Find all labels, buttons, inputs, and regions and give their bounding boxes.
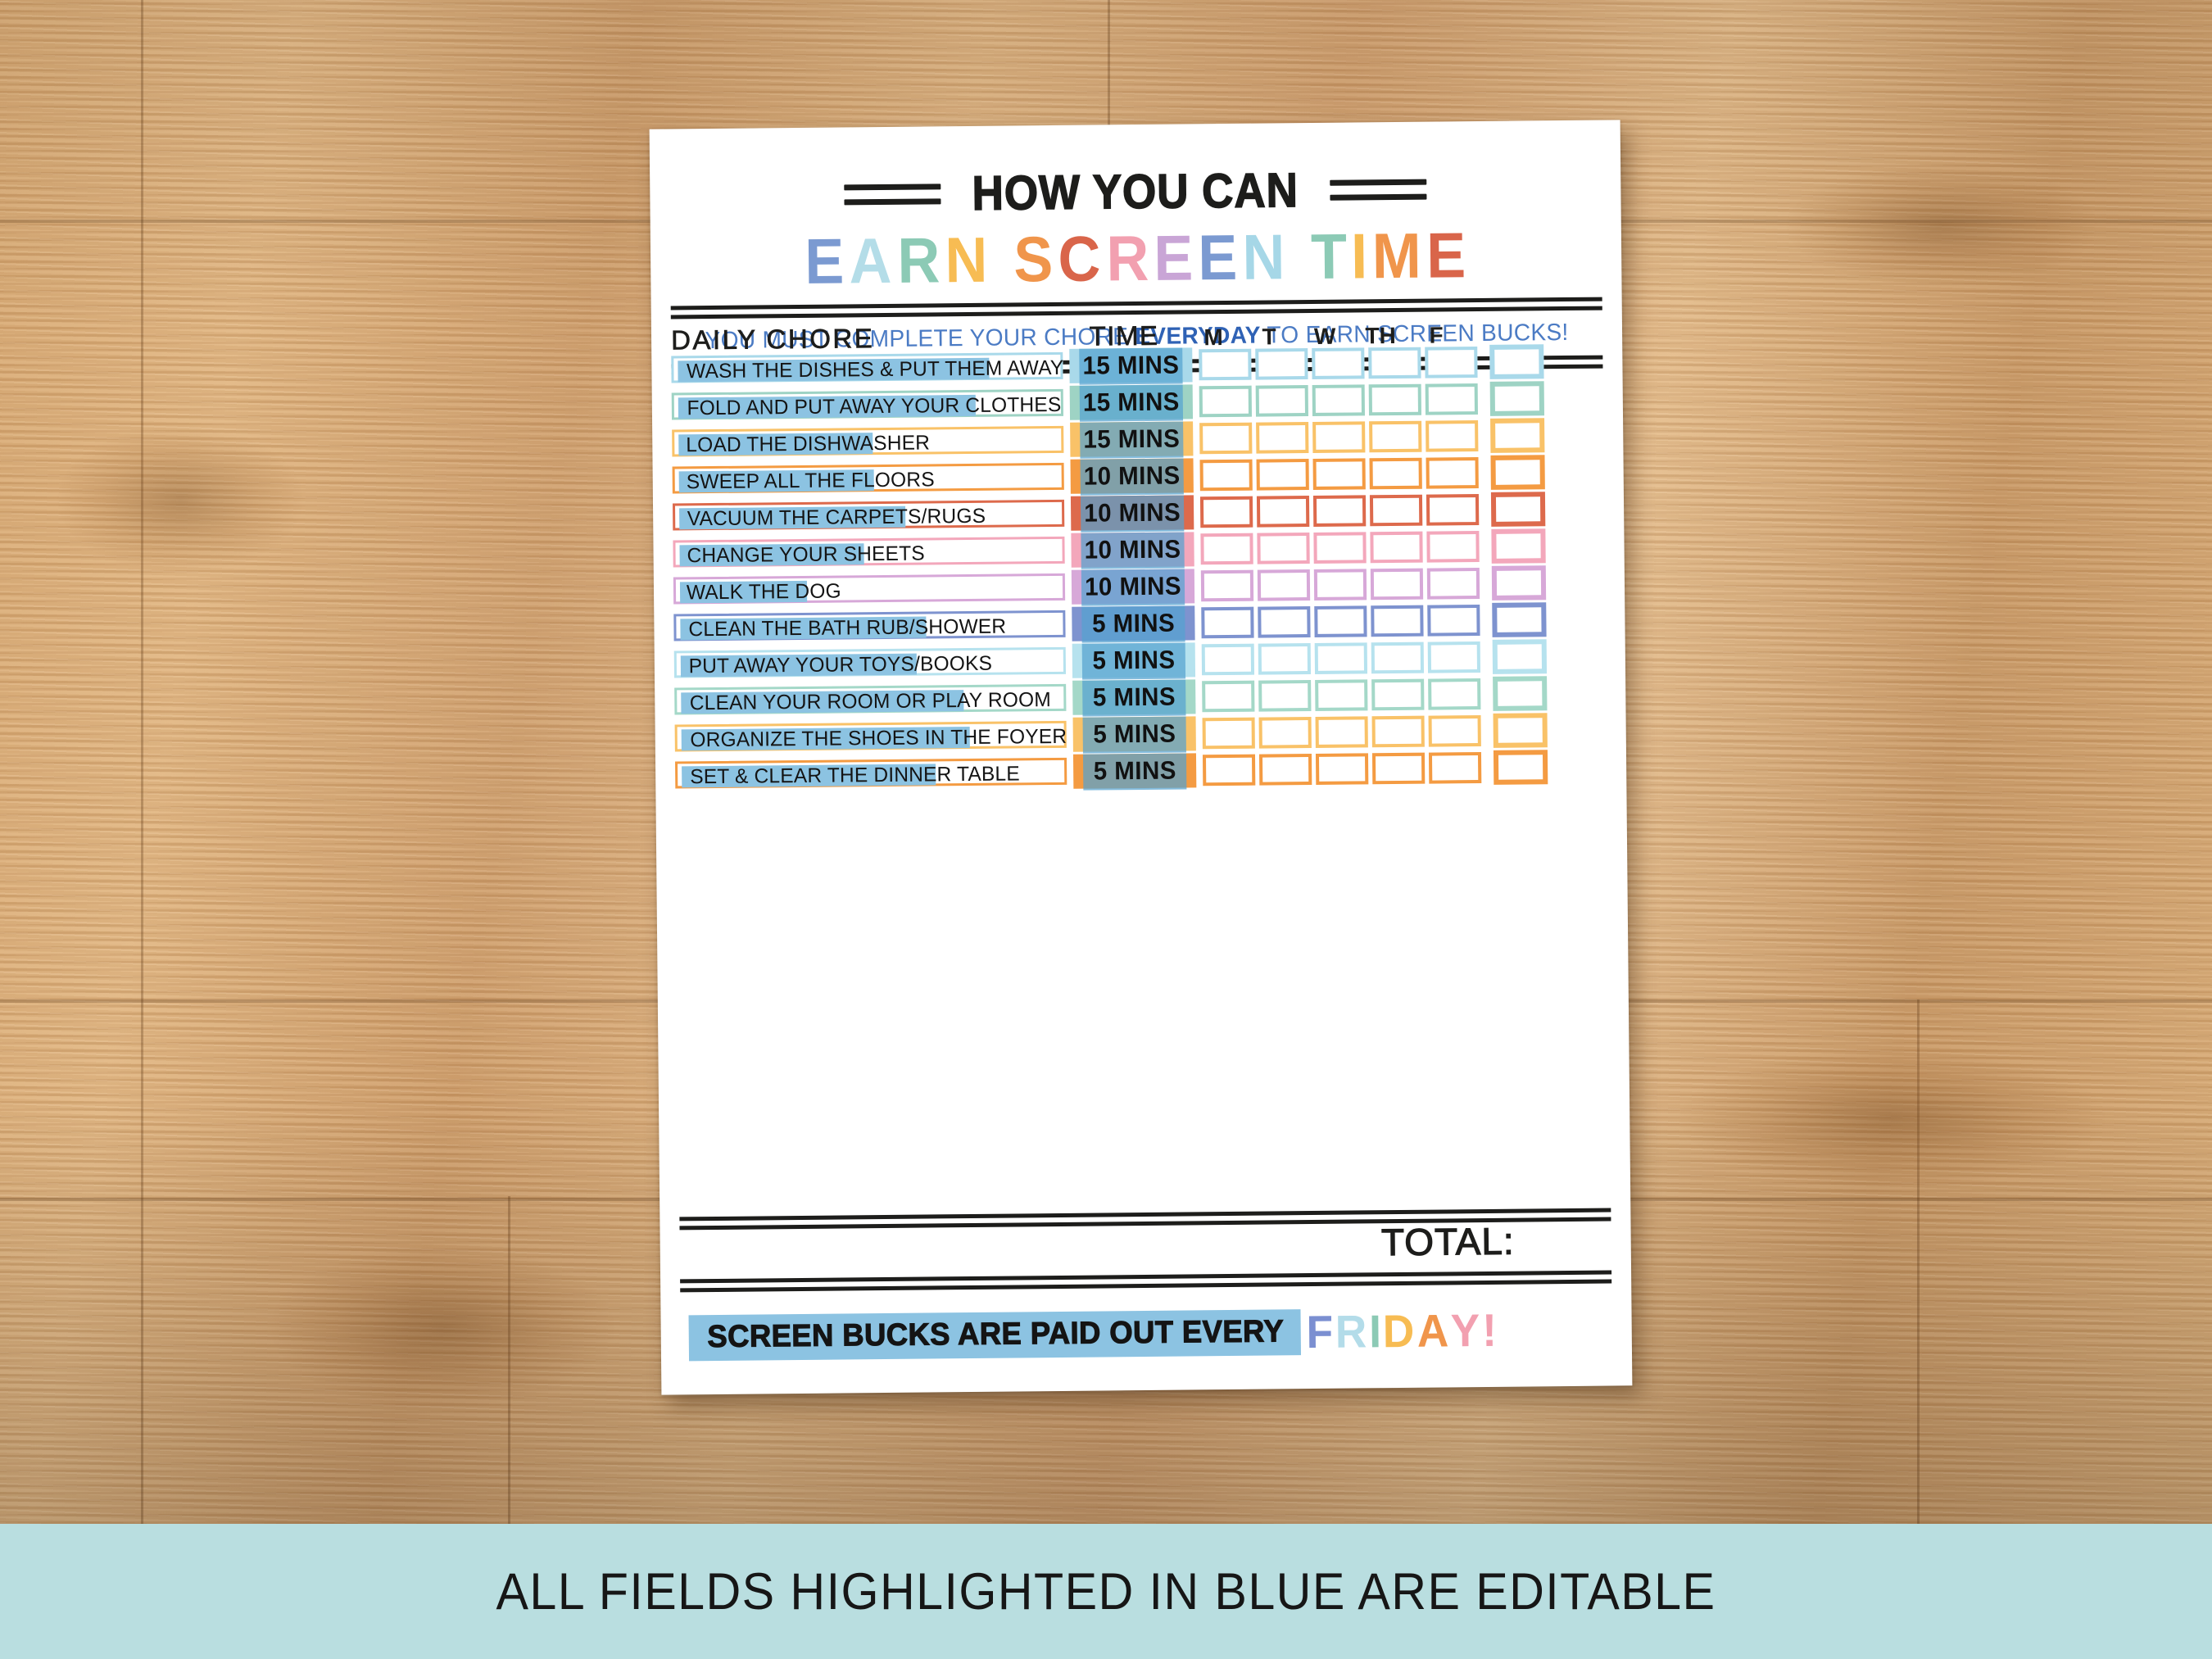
payout-day-word: FRIDAY! bbox=[1301, 1303, 1498, 1358]
day-checkbox-f[interactable] bbox=[1426, 531, 1479, 563]
title-letter: M bbox=[1371, 219, 1422, 294]
divider-below-total bbox=[680, 1271, 1611, 1293]
day-checkbox-f[interactable] bbox=[1429, 715, 1481, 747]
chore-editable-field[interactable]: FOLD AND PUT AWAY YOUR CLOTHES bbox=[678, 395, 976, 419]
day-checkbox-m[interactable] bbox=[1200, 533, 1253, 564]
table-row: CLEAN YOUR ROOM OR PLAY ROOM5 MINS bbox=[674, 679, 1606, 715]
time-label: 15 MINS bbox=[1083, 424, 1180, 454]
total-row: TOTAL: bbox=[679, 1218, 1611, 1271]
time-cell[interactable]: 15 MINS bbox=[1070, 421, 1193, 456]
chore-name-cell[interactable]: CHANGE YOUR SHEETS bbox=[673, 537, 1064, 568]
day-checkbox-group bbox=[1201, 605, 1480, 638]
chore-editable-field[interactable]: PUT AWAY YOUR TOYS/BOOKS bbox=[681, 654, 917, 678]
day-checkbox-m[interactable] bbox=[1201, 606, 1253, 638]
title-rule-left bbox=[844, 184, 941, 205]
day-checkbox-w[interactable] bbox=[1316, 716, 1368, 748]
day-checkbox-w[interactable] bbox=[1312, 347, 1364, 379]
chore-editable-field[interactable]: CLEAN THE BATH RUB/SHOWER bbox=[680, 617, 926, 641]
column-header-chore: DAILY CHORE bbox=[671, 321, 1063, 356]
day-checkbox-th[interactable] bbox=[1369, 383, 1421, 415]
row-total-box[interactable] bbox=[1490, 455, 1544, 490]
day-checkbox-f[interactable] bbox=[1427, 605, 1480, 637]
day-checkbox-t[interactable] bbox=[1258, 569, 1310, 601]
day-checkbox-w[interactable] bbox=[1315, 642, 1367, 674]
chore-editable-field[interactable]: CLEAN YOUR ROOM OR PLAY ROOM bbox=[681, 690, 963, 714]
day-checkbox-t[interactable] bbox=[1256, 385, 1308, 417]
day-checkbox-m[interactable] bbox=[1203, 717, 1255, 749]
payout-day-letter: Y bbox=[1451, 1303, 1481, 1357]
day-checkbox-f[interactable] bbox=[1428, 678, 1480, 710]
chore-editable-field[interactable]: WALK THE DOG bbox=[680, 581, 807, 603]
day-checkbox-w[interactable] bbox=[1312, 421, 1365, 453]
time-cell[interactable]: 5 MINS bbox=[1072, 642, 1195, 678]
day-checkbox-w[interactable] bbox=[1313, 532, 1366, 564]
row-total-box[interactable] bbox=[1494, 750, 1548, 785]
title-letter: N bbox=[1242, 220, 1287, 295]
day-checkbox-w[interactable] bbox=[1314, 605, 1367, 637]
chore-name-cell[interactable]: PUT AWAY YOUR TOYS/BOOKS bbox=[674, 647, 1066, 678]
day-checkbox-f[interactable] bbox=[1427, 568, 1480, 600]
row-total-box[interactable] bbox=[1490, 381, 1544, 416]
chore-editable-field[interactable]: LOAD THE DISHWASHER bbox=[678, 433, 873, 456]
title-letter: E bbox=[805, 224, 846, 298]
page-title-line1: HOW YOU CAN bbox=[972, 162, 1299, 221]
day-checkbox-group bbox=[1200, 457, 1479, 491]
page-title-line2: EARNSCREENTIME bbox=[650, 216, 1622, 300]
day-checkbox-f[interactable] bbox=[1425, 347, 1477, 378]
title-letter: C bbox=[1058, 221, 1103, 297]
payout-editable-field[interactable]: SCREEN BUCKS ARE PAID OUT EVERY bbox=[689, 1309, 1302, 1361]
chore-name-cell[interactable]: VACUUM THE CARPETS/RUGS bbox=[673, 500, 1064, 531]
table-row: VACUUM THE CARPETS/RUGS10 MINS bbox=[673, 495, 1604, 531]
day-checkbox-group bbox=[1199, 420, 1478, 454]
chore-label: LOAD THE DISHWASHER bbox=[681, 431, 930, 457]
chore-label: VACUUM THE CARPETS/RUGS bbox=[682, 504, 986, 531]
day-checkbox-t[interactable] bbox=[1258, 643, 1311, 675]
time-label: 10 MINS bbox=[1084, 497, 1181, 528]
day-checkbox-w[interactable] bbox=[1313, 495, 1366, 527]
chore-label: PUT AWAY YOUR TOYS/BOOKS bbox=[684, 651, 993, 678]
day-checkbox-f[interactable] bbox=[1426, 494, 1479, 526]
day-checkbox-t[interactable] bbox=[1257, 533, 1309, 564]
day-checkbox-t[interactable] bbox=[1258, 680, 1311, 712]
day-checkbox-m[interactable] bbox=[1199, 348, 1251, 380]
chore-label: CHANGE YOUR SHEETS bbox=[682, 542, 924, 568]
row-total-box[interactable] bbox=[1492, 565, 1546, 601]
header-title-row: HOW YOU CAN bbox=[650, 159, 1621, 224]
chore-name-cell[interactable]: SET & CLEAR THE DINNER TABLE bbox=[675, 758, 1067, 789]
time-label: 5 MINS bbox=[1093, 718, 1176, 749]
row-total-box[interactable] bbox=[1493, 639, 1547, 674]
day-checkbox-m[interactable] bbox=[1202, 680, 1254, 712]
time-label: 5 MINS bbox=[1093, 755, 1176, 786]
day-checkbox-th[interactable] bbox=[1372, 752, 1425, 784]
title-letter: R bbox=[1106, 221, 1151, 297]
row-total-box[interactable] bbox=[1493, 676, 1547, 711]
title-rule-right bbox=[1330, 179, 1426, 200]
day-checkbox-group bbox=[1199, 347, 1477, 380]
payout-banner: SCREEN BUCKS ARE PAID OUT EVERY FRIDAY! bbox=[688, 1303, 1607, 1365]
title-letter: E bbox=[1198, 220, 1240, 295]
day-checkbox-group bbox=[1203, 752, 1481, 786]
chore-label: WASH THE DISHES & PUT THEM AWAY bbox=[682, 356, 1063, 383]
payout-day-letter: A bbox=[1416, 1303, 1449, 1357]
day-checkbox-w[interactable] bbox=[1312, 384, 1365, 416]
title-letter: A bbox=[849, 224, 894, 299]
day-checkbox-m[interactable] bbox=[1200, 459, 1253, 491]
day-checkbox-th[interactable] bbox=[1371, 568, 1423, 600]
chore-name-cell[interactable]: ORGANIZE THE SHOES IN THE FOYER bbox=[675, 721, 1067, 752]
day-checkbox-group bbox=[1203, 715, 1481, 749]
time-cell[interactable]: 10 MINS bbox=[1071, 458, 1194, 493]
payout-day-letter: ! bbox=[1482, 1303, 1498, 1357]
title-letter: E bbox=[1426, 218, 1468, 292]
title-letter: T bbox=[1311, 220, 1349, 294]
day-checkbox-f[interactable] bbox=[1426, 457, 1478, 489]
day-checkbox-th[interactable] bbox=[1371, 605, 1423, 637]
chore-name-cell[interactable]: CLEAN THE BATH RUB/SHOWER bbox=[673, 610, 1065, 641]
chore-label: ORGANIZE THE SHOES IN THE FOYER bbox=[685, 724, 1067, 751]
title-letter: I bbox=[1351, 219, 1370, 293]
chore-label: CLEAN THE BATH RUB/SHOWER bbox=[683, 614, 1006, 641]
row-total-box[interactable] bbox=[1494, 713, 1548, 748]
row-total-box[interactable] bbox=[1489, 344, 1543, 379]
chore-editable-field[interactable]: SET & CLEAR THE DINNER TABLE bbox=[682, 764, 936, 787]
chore-label: SWEEP ALL THE FLOORS bbox=[682, 468, 935, 494]
day-checkbox-th[interactable] bbox=[1372, 715, 1425, 747]
day-checkbox-group bbox=[1201, 568, 1480, 601]
table-row: ORGANIZE THE SHOES IN THE FOYER5 MINS bbox=[675, 716, 1607, 752]
payout-day-letter: F bbox=[1306, 1305, 1334, 1358]
day-checkbox-th[interactable] bbox=[1369, 420, 1421, 452]
time-cell[interactable]: 5 MINS bbox=[1072, 605, 1194, 641]
total-label: TOTAL: bbox=[1381, 1219, 1611, 1264]
table-row: WALK THE DOG10 MINS bbox=[673, 569, 1605, 605]
chore-editable-field[interactable]: ORGANIZE THE SHOES IN THE FOYER bbox=[682, 727, 970, 750]
table-row: PUT AWAY YOUR TOYS/BOOKS5 MINS bbox=[674, 642, 1606, 678]
table-row: LOAD THE DISHWASHER15 MINS bbox=[672, 421, 1603, 457]
time-cell[interactable]: 5 MINS bbox=[1073, 753, 1196, 788]
payout-text: SCREEN BUCKS ARE PAID OUT EVERY bbox=[707, 1314, 1284, 1355]
day-checkbox-th[interactable] bbox=[1368, 347, 1421, 378]
day-checkbox-th[interactable] bbox=[1370, 494, 1422, 526]
column-header-day-f: F bbox=[1408, 322, 1464, 349]
table-row: FOLD AND PUT AWAY YOUR CLOTHES15 MINS bbox=[672, 384, 1603, 420]
column-header-day-m: M bbox=[1185, 324, 1241, 351]
time-cell[interactable]: 10 MINS bbox=[1071, 532, 1194, 567]
chore-name-cell[interactable]: CLEAN YOUR ROOM OR PLAY ROOM bbox=[674, 684, 1066, 715]
time-cell[interactable]: 5 MINS bbox=[1072, 679, 1195, 714]
chore-rows: WASH THE DISHES & PUT THEM AWAY15 MINSFO… bbox=[671, 347, 1607, 789]
time-label: 15 MINS bbox=[1083, 387, 1180, 417]
day-checkbox-m[interactable] bbox=[1200, 496, 1253, 528]
time-label: 5 MINS bbox=[1092, 608, 1175, 638]
day-checkbox-f[interactable] bbox=[1426, 420, 1478, 452]
day-checkbox-m[interactable] bbox=[1203, 754, 1255, 786]
column-header-day-th: TH bbox=[1353, 323, 1408, 350]
row-total-box[interactable] bbox=[1491, 492, 1545, 527]
day-checkbox-w[interactable] bbox=[1313, 458, 1366, 490]
day-checkbox-t[interactable] bbox=[1255, 348, 1308, 380]
day-checkbox-w[interactable] bbox=[1315, 679, 1367, 711]
chore-label: SET & CLEAR THE DINNER TABLE bbox=[685, 762, 1020, 789]
chore-name-cell[interactable]: FOLD AND PUT AWAY YOUR CLOTHES bbox=[672, 389, 1063, 420]
day-checkbox-m[interactable] bbox=[1202, 643, 1254, 675]
day-checkbox-m[interactable] bbox=[1199, 422, 1252, 454]
title-letter: R bbox=[897, 223, 942, 298]
table-row: SET & CLEAR THE DINNER TABLE5 MINS bbox=[675, 753, 1607, 789]
banner-text: ALL FIELDS HIGHLIGHTED IN BLUE ARE EDITA… bbox=[496, 1562, 1716, 1621]
day-checkbox-th[interactable] bbox=[1371, 678, 1424, 710]
day-checkbox-t[interactable] bbox=[1257, 459, 1309, 491]
table-row: CHANGE YOUR SHEETS10 MINS bbox=[673, 532, 1604, 568]
day-checkbox-t[interactable] bbox=[1259, 753, 1312, 785]
day-checkbox-th[interactable] bbox=[1370, 531, 1422, 563]
row-total-box[interactable] bbox=[1491, 528, 1545, 564]
day-checkbox-group bbox=[1202, 678, 1480, 712]
chore-editable-field[interactable]: VACUUM THE CARPETS/RUGS bbox=[679, 506, 905, 530]
day-checkbox-t[interactable] bbox=[1257, 496, 1309, 528]
time-cell[interactable]: 10 MINS bbox=[1072, 569, 1194, 604]
time-cell[interactable]: 15 MINS bbox=[1069, 347, 1192, 383]
chore-editable-field[interactable]: CHANGE YOUR SHEETS bbox=[679, 543, 863, 566]
time-label: 10 MINS bbox=[1084, 534, 1181, 564]
day-checkbox-group bbox=[1200, 531, 1479, 564]
title-letter: N bbox=[945, 223, 990, 298]
time-label: 5 MINS bbox=[1093, 682, 1176, 712]
chore-name-cell[interactable]: WALK THE DOG bbox=[673, 573, 1065, 605]
chore-label: WALK THE DOG bbox=[682, 579, 841, 605]
day-checkbox-th[interactable] bbox=[1371, 641, 1424, 673]
day-checkbox-m[interactable] bbox=[1201, 569, 1253, 601]
day-checkbox-group bbox=[1202, 641, 1480, 675]
time-label: 15 MINS bbox=[1082, 350, 1179, 380]
time-label: 10 MINS bbox=[1084, 460, 1181, 491]
payout-day-letter: D bbox=[1383, 1304, 1416, 1358]
title-letter: S bbox=[1013, 222, 1055, 297]
day-checkbox-t[interactable] bbox=[1256, 422, 1308, 454]
day-checkbox-th[interactable] bbox=[1370, 457, 1422, 489]
payout-day-letter: R bbox=[1335, 1304, 1368, 1358]
title-letter: E bbox=[1154, 220, 1195, 295]
row-total-box[interactable] bbox=[1492, 602, 1546, 637]
chore-editable-field[interactable]: SWEEP ALL THE FLOORS bbox=[679, 469, 874, 492]
day-checkbox-f[interactable] bbox=[1429, 752, 1481, 784]
table-row: CLEAN THE BATH RUB/SHOWER5 MINS bbox=[673, 605, 1605, 641]
row-total-box[interactable] bbox=[1490, 418, 1544, 453]
day-checkbox-group bbox=[1199, 383, 1478, 417]
chore-name-cell[interactable]: LOAD THE DISHWASHER bbox=[672, 426, 1063, 457]
time-label: 5 MINS bbox=[1092, 645, 1175, 675]
column-header-day-t: T bbox=[1241, 324, 1297, 351]
editable-fields-banner: ALL FIELDS HIGHLIGHTED IN BLUE ARE EDITA… bbox=[0, 1524, 2212, 1659]
chore-table: DAILY CHORE TIME MTWTHF WASH THE DISHES … bbox=[671, 311, 1607, 799]
chore-name-cell[interactable]: WASH THE DISHES & PUT THEM AWAY bbox=[671, 352, 1063, 383]
day-checkbox-w[interactable] bbox=[1316, 753, 1368, 785]
day-checkbox-group bbox=[1200, 494, 1479, 528]
day-checkbox-t[interactable] bbox=[1258, 606, 1310, 638]
table-row: SWEEP ALL THE FLOORS10 MINS bbox=[673, 458, 1604, 494]
time-cell[interactable]: 10 MINS bbox=[1071, 495, 1194, 530]
column-header-day-w: W bbox=[1297, 323, 1353, 350]
payout-day-letter: I bbox=[1369, 1304, 1382, 1358]
printable-chore-chart-sheet: HOW YOU CAN EARNSCREENTIME YOU MUST COMP… bbox=[650, 120, 1633, 1394]
day-checkbox-m[interactable] bbox=[1199, 385, 1252, 417]
day-checkbox-t[interactable] bbox=[1259, 717, 1312, 749]
chore-editable-field[interactable]: WASH THE DISHES & PUT THEM AWAY bbox=[678, 358, 989, 383]
day-checkbox-f[interactable] bbox=[1426, 383, 1478, 415]
time-cell[interactable]: 5 MINS bbox=[1073, 716, 1196, 751]
day-checkbox-f[interactable] bbox=[1428, 641, 1480, 673]
chore-name-cell[interactable]: SWEEP ALL THE FLOORS bbox=[673, 463, 1064, 494]
time-label: 10 MINS bbox=[1085, 571, 1181, 601]
day-checkbox-w[interactable] bbox=[1314, 569, 1367, 601]
chore-label: CLEAN YOUR ROOM OR PLAY ROOM bbox=[685, 688, 1051, 715]
time-cell[interactable]: 15 MINS bbox=[1070, 384, 1193, 419]
chore-label: FOLD AND PUT AWAY YOUR CLOTHES bbox=[682, 392, 1061, 419]
